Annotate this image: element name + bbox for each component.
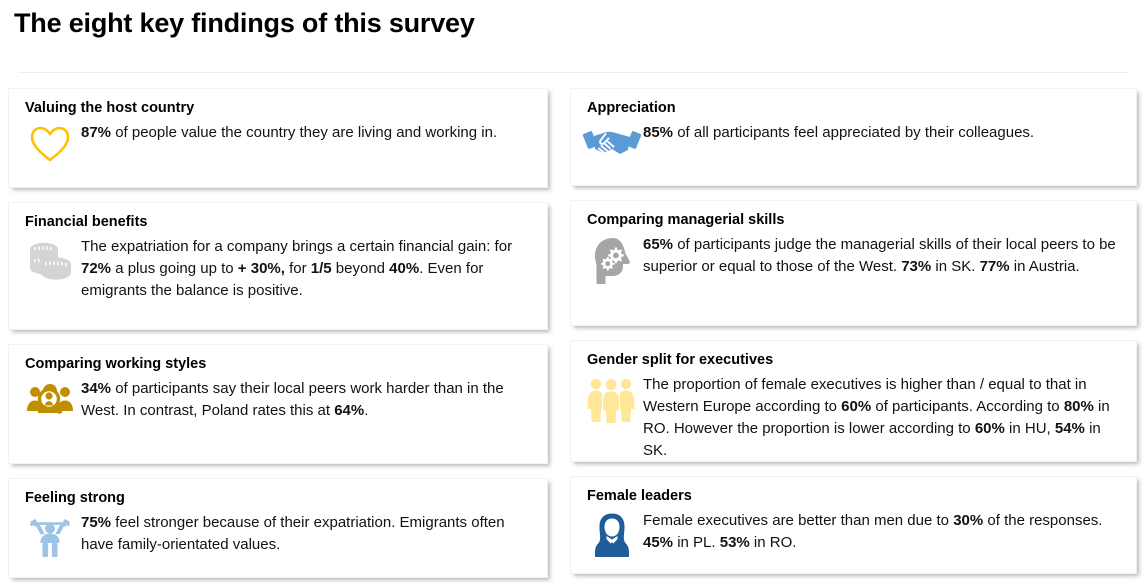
finding-card-financial-benefits[interactable]: Financial benefits — [8, 202, 548, 330]
card-body: 87% of people value the country they are… — [19, 120, 537, 164]
head-gears-icon — [581, 232, 643, 286]
card-body: 75% feel stronger because of their expat… — [19, 510, 537, 558]
card-text: 85% of all participants feel appreciated… — [643, 120, 1126, 144]
card-text: 65% of participants judge the managerial… — [643, 232, 1126, 278]
card-body: The proportion of female executives is h… — [581, 372, 1126, 462]
card-text: The proportion of female executives is h… — [643, 372, 1126, 462]
female-leader-icon — [581, 508, 643, 558]
card-body: 65% of participants judge the managerial… — [581, 232, 1126, 286]
three-women-icon — [581, 372, 643, 426]
finding-card-feeling-strong[interactable]: Feeling strong — [8, 478, 548, 578]
finding-card-valuing-host-country[interactable]: Valuing the host country 87% of people v… — [8, 88, 548, 188]
card-body: Female executives are better than men du… — [581, 508, 1126, 558]
card-title: Appreciation — [587, 99, 1126, 117]
card-text: The expatriation for a company brings a … — [81, 234, 537, 302]
finding-card-comparing-managerial-skills[interactable]: Comparing managerial skills — [570, 200, 1137, 326]
card-title: Female leaders — [587, 487, 1126, 505]
right-column: Appreciation — [570, 88, 1137, 583]
finding-card-female-leaders[interactable]: Female leaders — [570, 476, 1137, 574]
finding-card-gender-split-for-executives[interactable]: Gender split for executives — [570, 340, 1137, 462]
card-text: 87% of people value the country they are… — [81, 120, 537, 144]
page-title: The eight key findings of this survey — [14, 8, 475, 39]
heart-icon — [19, 120, 81, 164]
card-title: Feeling strong — [25, 489, 537, 507]
people-magnifier-icon — [19, 376, 81, 422]
card-title: Comparing managerial skills — [587, 211, 1126, 229]
card-title: Comparing working styles — [25, 355, 537, 373]
card-body: The expatriation for a company brings a … — [19, 234, 537, 302]
survey-findings-page: The eight key findings of this survey Va… — [0, 0, 1145, 583]
left-column: Valuing the host country 87% of people v… — [8, 88, 548, 583]
card-text: Female executives are better than men du… — [643, 508, 1126, 554]
coins-icon — [19, 234, 81, 284]
card-body: 85% of all participants feel appreciated… — [581, 120, 1126, 164]
card-text: 75% feel stronger because of their expat… — [81, 510, 537, 556]
finding-card-appreciation[interactable]: Appreciation — [570, 88, 1137, 186]
card-title: Gender split for executives — [587, 351, 1126, 369]
weightlifter-icon — [19, 510, 81, 558]
card-title: Valuing the host country — [25, 99, 537, 117]
finding-card-comparing-working-styles[interactable]: Comparing working styles — [8, 344, 548, 464]
card-title: Financial benefits — [25, 213, 537, 231]
card-text: 34% of participants say their local peer… — [81, 376, 537, 422]
handshake-icon — [581, 120, 643, 164]
header-divider — [18, 72, 1128, 73]
card-body: 34% of participants say their local peer… — [19, 376, 537, 422]
